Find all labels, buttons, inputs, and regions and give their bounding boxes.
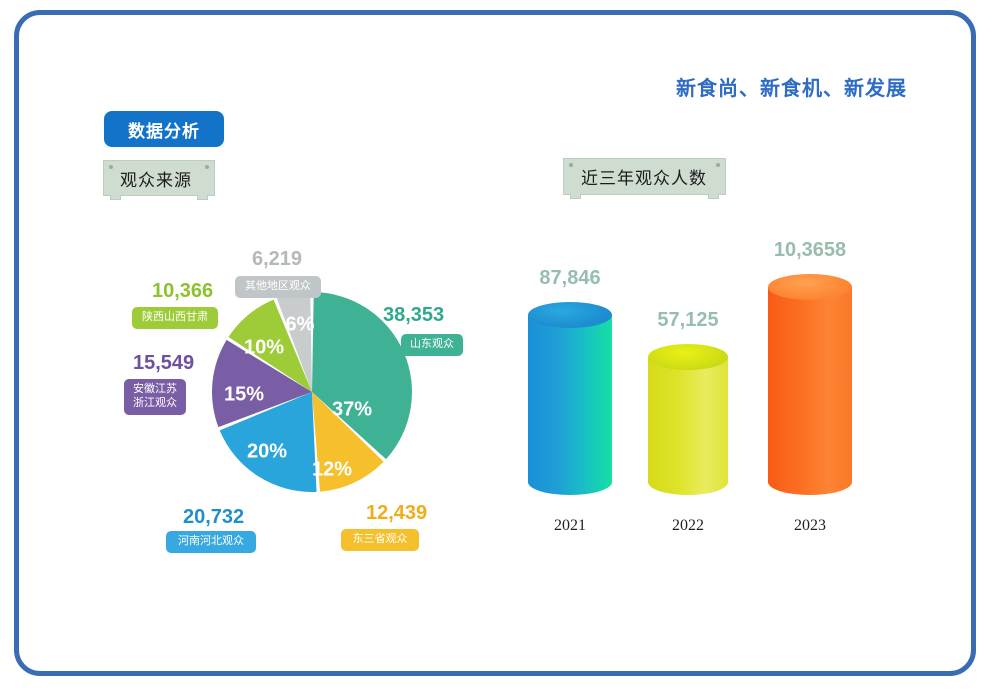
section-title-text: 观众来源 [120,166,192,191]
pie-value-label: 10,366 [152,280,213,303]
pie-category-tag: 河南河北观众 [166,531,256,553]
plate-tab-right [708,194,719,199]
plate-dot-right [205,165,209,169]
pie-chart-svg [212,292,412,492]
bar-chart: 87,846202157,125202210,36582023 [500,235,880,535]
bar-cylinder-top [768,274,852,300]
plate-dot-right [716,163,720,167]
bar-cylinder-top [528,302,612,328]
pie-category-tag: 山东观众 [401,334,463,356]
pie-category-tag-line: 山东观众 [410,338,454,352]
pie-value-label: 38,353 [383,304,444,327]
pie-category-tag-line: 陕西山西甘肃 [142,311,208,325]
plate-dot-left [109,165,113,169]
section-title-audience-source: 观众来源 [103,160,215,196]
slide-page: 新食尚、新食机、新发展 数据分析 观众来源 近三年观众人数 37%12%20%1… [0,0,1000,696]
pie-value-label: 20,732 [183,506,244,529]
bar-cylinder [528,302,612,495]
pie-category-tag-line: 河南河北观众 [178,535,244,549]
pie-category-tag-line: 东三省观众 [353,533,408,547]
plate-tab-left [570,194,581,199]
pie-value-label: 6,219 [252,248,302,271]
pie-category-tag: 陕西山西甘肃 [132,307,218,329]
pie-category-tag: 其他地区观众 [235,276,321,298]
plate-tab-right [197,195,208,200]
bar-cylinder [648,344,728,495]
section-title-three-year-audience: 近三年观众人数 [563,158,726,195]
page-title: 新食尚、新食机、新发展 [676,72,907,101]
bar-cylinder-body [768,287,852,495]
bar-value-label: 10,3658 [774,239,846,262]
plate-tab-left [110,195,121,200]
section-badge-data-analysis: 数据分析 [104,111,224,147]
bar-category-label: 2023 [794,517,826,535]
pie-category-tag: 安徽江苏浙江观众 [124,379,186,415]
bar-cylinder-top [648,344,728,370]
pie-value-label: 12,439 [366,502,427,525]
pie-value-label: 15,549 [133,352,194,375]
bar-value-label: 87,846 [539,267,600,290]
bar-cylinder-body [648,357,728,495]
bar-category-label: 2021 [554,517,586,535]
pie-chart: 37%12%20%15%10%6% [212,292,412,492]
section-title-text: 近三年观众人数 [581,164,707,189]
pie-category-tag: 东三省观众 [341,529,419,551]
bar-cylinder-body [528,315,612,495]
pie-category-tag-line: 安徽江苏 [133,383,177,397]
bar-cylinder [768,274,852,495]
bar-category-label: 2022 [672,517,704,535]
pie-category-tag-line: 浙江观众 [133,397,177,411]
pie-category-tag-line: 其他地区观众 [245,280,311,294]
plate-dot-left [569,163,573,167]
bar-value-label: 57,125 [657,309,718,332]
